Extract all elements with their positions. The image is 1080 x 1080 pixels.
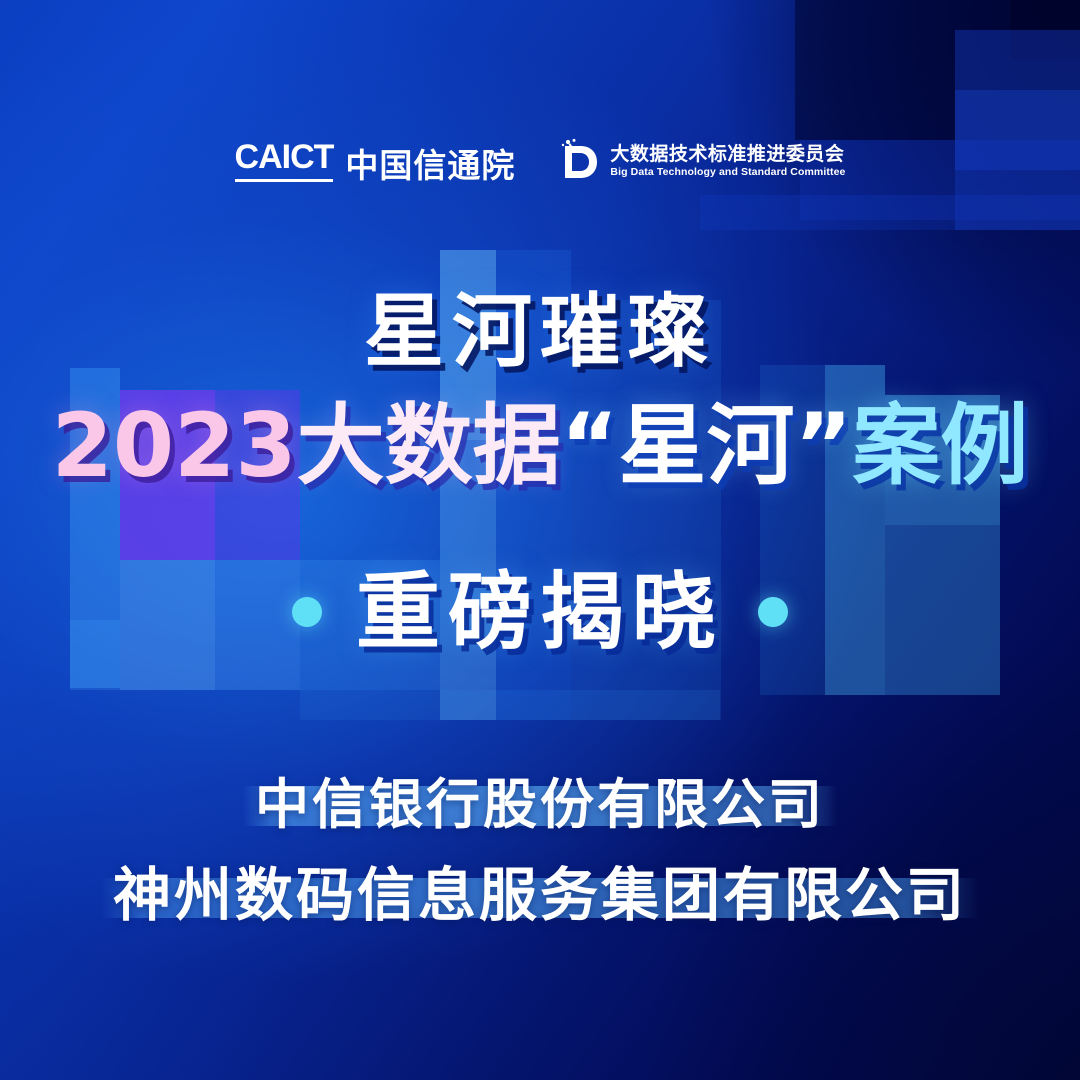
- caict-acronym: CAICT: [235, 140, 334, 174]
- company-row-one: 中信银行股份有限公司: [0, 778, 1080, 832]
- caict-chinese-name: 中国信通院: [345, 149, 515, 182]
- cyan-dot-icon-left: [292, 597, 322, 627]
- committee-logo: 大数据技术标准推进委员会 Big Data Technology and Sta…: [559, 138, 845, 184]
- title-bigdata: 大数据: [297, 394, 561, 497]
- company-one-name: 中信银行股份有限公司: [255, 773, 825, 836]
- title-year: 2023: [52, 394, 297, 497]
- company-two-name: 神州数码信息服务集团有限公司: [113, 861, 967, 929]
- title-quote-open: “: [561, 394, 619, 497]
- bg-block-lower-middle: [300, 690, 720, 720]
- header-logos: CAICT 中国信通院 大数据技术标准推进委员会 Big Data Techno…: [0, 138, 1080, 184]
- company-row-two: 神州数码信息服务集团有限公司: [0, 866, 1080, 924]
- committee-text: 大数据技术标准推进委员会 Big Data Technology and Sta…: [610, 145, 845, 178]
- title-line-three: 重磅揭晓: [356, 570, 724, 654]
- stylized-d-logo-icon: [559, 138, 599, 184]
- title-line-one: 星河璀璨: [0, 292, 1080, 372]
- caict-logo: CAICT 中国信通院: [235, 140, 516, 182]
- company-two-wrapper: 神州数码信息服务集团有限公司: [107, 866, 973, 924]
- committee-chinese-name: 大数据技术标准推进委员会: [610, 145, 845, 164]
- caict-underline-mark-icon: CAICT: [235, 140, 334, 182]
- title-quote-close: ”: [794, 394, 852, 497]
- title-case: 案例: [852, 394, 1028, 497]
- committee-english-name: Big Data Technology and Standard Committ…: [610, 167, 845, 178]
- company-one-wrapper: 中信银行股份有限公司: [249, 778, 831, 832]
- title-galaxy: 星河: [618, 394, 794, 497]
- poster-canvas: CAICT 中国信通院 大数据技术标准推进委员会 Big Data Techno…: [0, 0, 1080, 1080]
- title-line-two: 2023大数据“星河”案例: [0, 402, 1080, 490]
- cyan-dot-icon-right: [758, 597, 788, 627]
- bg-block-top-right-band: [700, 195, 1080, 230]
- caict-rule: [235, 179, 334, 182]
- title-line-three-row: 重磅揭晓: [0, 570, 1080, 654]
